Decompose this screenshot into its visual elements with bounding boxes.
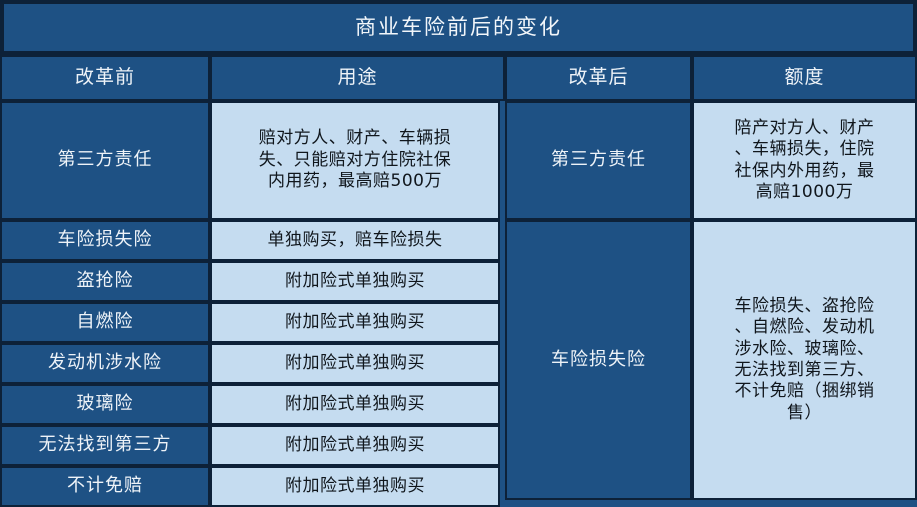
table-cell-before-6: 无法找到第三方	[0, 425, 210, 466]
slide-canvas: 商业车险前后的变化 改革前 用途 改革后 额度 第三方责任 赔对方人、财产、车辆…	[0, 0, 917, 500]
column-header-after: 改革后	[505, 55, 692, 101]
table-cell-usage-4: 附加险式单独购买	[210, 343, 500, 384]
table-cell-usage-3: 附加险式单独购买	[210, 302, 500, 343]
table-cell-before-3: 自燃险	[0, 302, 210, 343]
table-cell-after-merged: 车险损失险	[505, 220, 692, 500]
table-title-band: 商业车险前后的变化	[0, 0, 917, 55]
table-cell-usage-7: 附加险式单独购买	[210, 466, 500, 507]
table-cell-limit-0: 陪产对方人、财产 、车辆损失，住院 社保内外用药，最 高赔1000万	[692, 101, 917, 220]
table-cell-usage-0: 赔对方人、财产、车辆损 失、只能赔对方住院社保 内用药，最高赔500万	[210, 101, 500, 220]
table-cell-before-4: 发动机涉水险	[0, 343, 210, 384]
table-cell-before-0: 第三方责任	[0, 101, 210, 220]
table-cell-usage-6: 附加险式单独购买	[210, 425, 500, 466]
comparison-table: 改革前 用途 改革后 额度 第三方责任 赔对方人、财产、车辆损 失、只能赔对方住…	[0, 55, 917, 500]
table-cell-usage-5: 附加险式单独购买	[210, 384, 500, 425]
column-header-limit: 额度	[692, 55, 917, 101]
table-cell-after-0: 第三方责任	[505, 101, 692, 220]
column-header-usage: 用途	[210, 55, 505, 101]
table-cell-before-5: 玻璃险	[0, 384, 210, 425]
table-cell-usage-1: 单独购买，赔车险损失	[210, 220, 500, 261]
table-cell-usage-2: 附加险式单独购买	[210, 261, 500, 302]
page-title: 商业车险前后的变化	[355, 17, 562, 38]
column-header-before: 改革前	[0, 55, 210, 101]
table-cell-before-7: 不计免赔	[0, 466, 210, 507]
table-cell-before-1: 车险损失险	[0, 220, 210, 261]
table-cell-before-2: 盗抢险	[0, 261, 210, 302]
table-cell-limit-merged: 车险损失、盗抢险 、自燃险、发动机 涉水险、玻璃险、 无法找到第三方、 不计免赔…	[692, 220, 917, 500]
